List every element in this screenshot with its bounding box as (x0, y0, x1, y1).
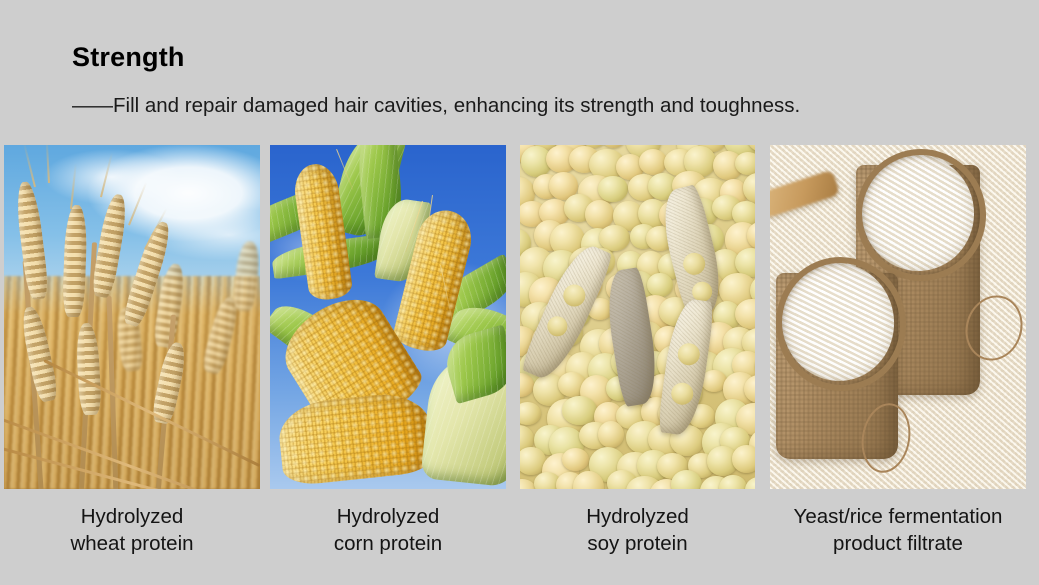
soybean (599, 225, 630, 251)
gallery-item-corn[interactable] (270, 145, 506, 489)
soybean (732, 445, 755, 472)
soybean (598, 176, 627, 202)
image-gallery (0, 145, 1039, 489)
caption-line: Hydrolyzed (270, 503, 506, 530)
gallery-item-wheat[interactable] (4, 145, 260, 489)
slide-canvas: Strength ——Fill and repair damaged hair … (0, 0, 1039, 585)
corn-photo (270, 145, 506, 489)
caption-rice: Yeast/rice fermentation product filtrate (770, 503, 1026, 557)
soybean (639, 149, 667, 175)
caption-line: Hydrolyzed (520, 503, 755, 530)
page-subtitle: ——Fill and repair damaged hair cavities,… (72, 92, 800, 120)
gallery-item-rice[interactable] (770, 145, 1026, 489)
soybean-photo (520, 145, 755, 489)
gallery-item-soy[interactable] (520, 145, 755, 489)
soybean (735, 152, 755, 175)
soybean (647, 273, 673, 297)
caption-soy: Hydrolyzed soy protein (520, 503, 755, 557)
wheat-stalks-group (4, 145, 260, 489)
soybean (598, 421, 624, 448)
caption-line: wheat protein (4, 530, 260, 557)
soybean (562, 396, 597, 426)
caption-row: Hydrolyzed wheat protein Hydrolyzed corn… (0, 503, 1039, 573)
caption-corn: Hydrolyzed corn protein (270, 503, 506, 557)
soybean (600, 145, 627, 148)
soybean (520, 402, 541, 425)
page-title: Strength (72, 40, 185, 74)
soybean (562, 448, 589, 471)
soybean (745, 477, 755, 490)
soybean (719, 475, 746, 489)
wheat-field-photo (4, 145, 260, 489)
caption-line: Yeast/rice fermentation (770, 503, 1026, 530)
caption-line: soy protein (520, 530, 755, 557)
caption-line: Hydrolyzed (4, 503, 260, 530)
caption-wheat: Hydrolyzed wheat protein (4, 503, 260, 557)
soybean (735, 299, 755, 329)
caption-line: product filtrate (770, 530, 1026, 557)
caption-line: corn protein (270, 530, 506, 557)
rice-sacks-photo (770, 145, 1026, 489)
